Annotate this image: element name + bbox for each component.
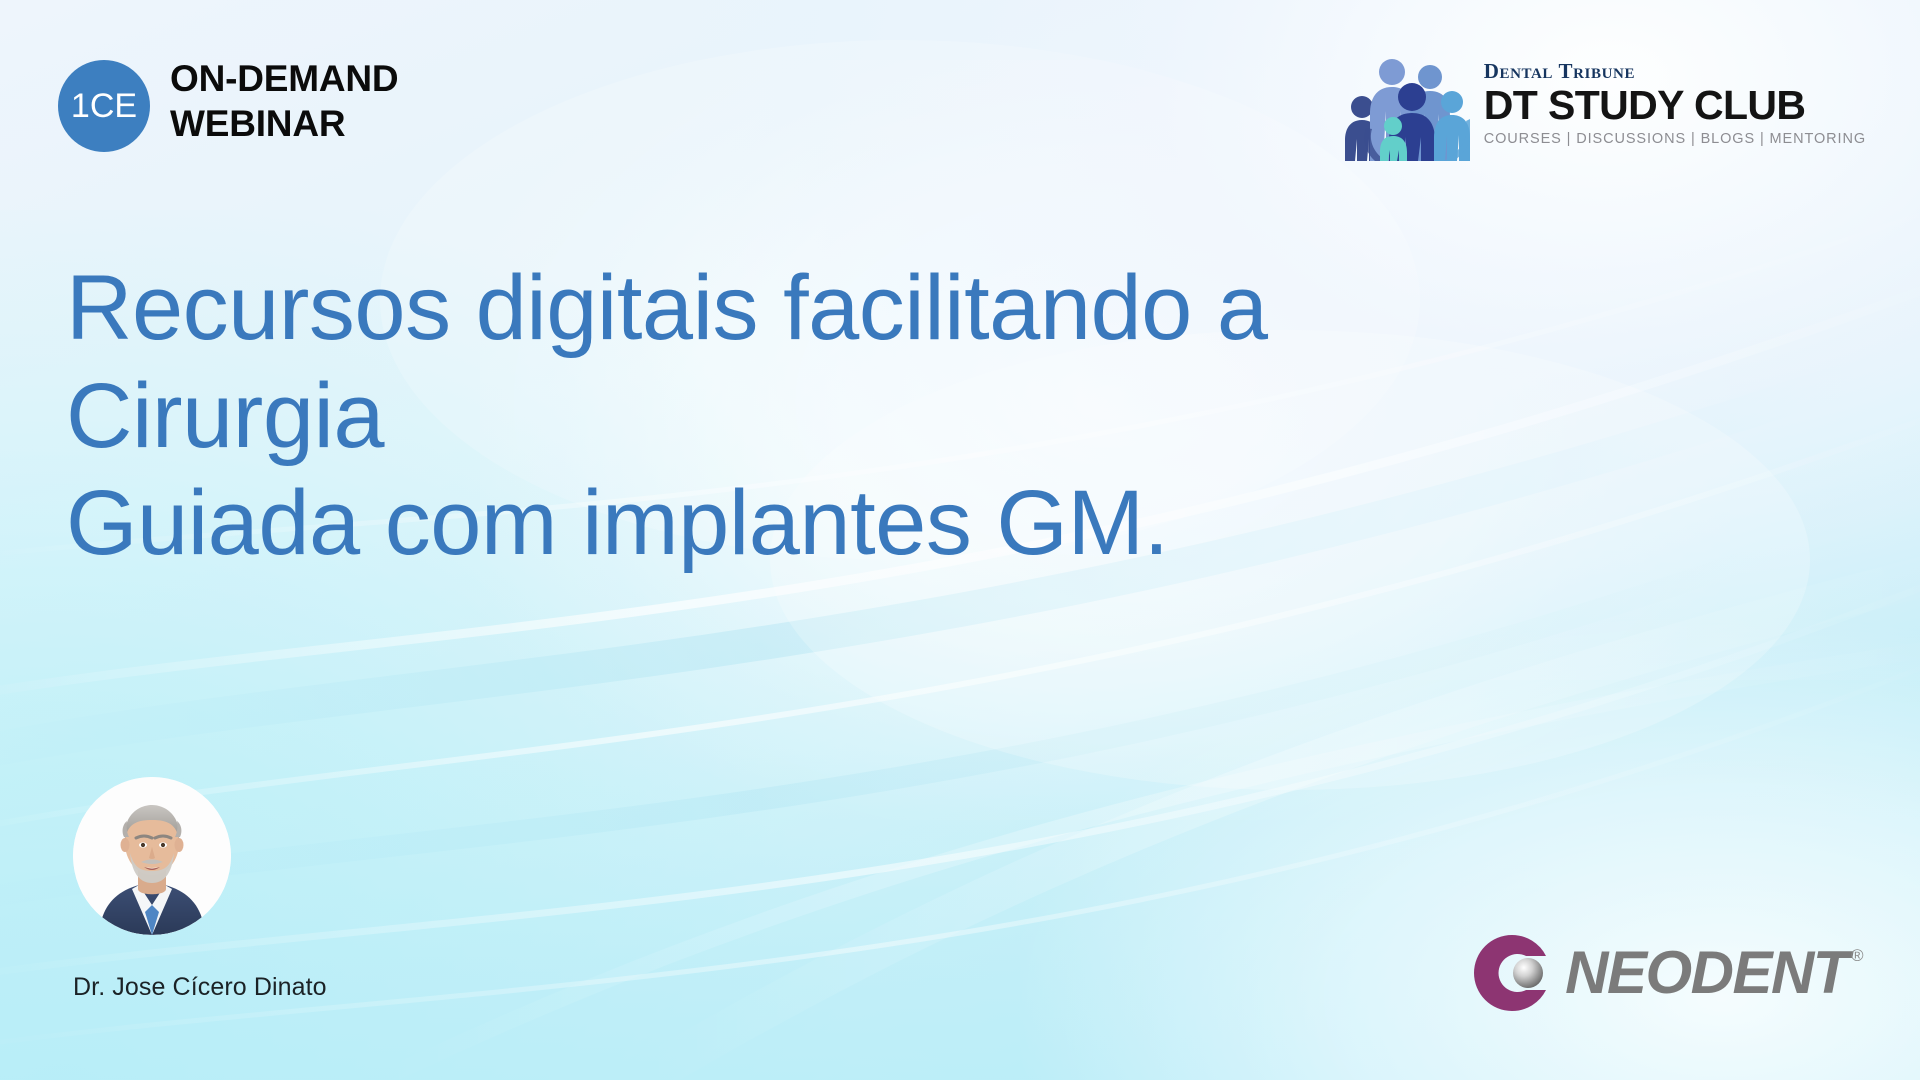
neodent-wordmark: NEODENT ® xyxy=(1565,943,1862,1003)
neodent-name: NEODENT xyxy=(1565,943,1848,1003)
ce-credit-badge: 1CE xyxy=(58,60,150,152)
neodent-sponsor-logo: NEODENT ® xyxy=(1469,930,1862,1016)
speaker-avatar xyxy=(73,777,231,935)
webinar-title-line1: Recursos digitais facilitando a Cirurgia xyxy=(66,255,1546,470)
dt-study-club-wordmark: Dental Tribune DT STUDY CLUB COURSES | D… xyxy=(1484,55,1866,147)
speaker-portrait-image xyxy=(73,777,231,935)
dental-tribune-publisher: Dental Tribune xyxy=(1484,61,1866,82)
webinar-type-label: ON-DEMAND WEBINAR xyxy=(170,56,398,146)
ce-credit-label: 1CE xyxy=(71,89,137,123)
webinar-title-line2: Guiada com implantes GM. xyxy=(66,470,1546,578)
speaker-name: Dr. Jose Cícero Dinato xyxy=(73,973,327,1002)
webinar-promo-slide: 1CE ON-DEMAND WEBINAR xyxy=(0,0,1920,1080)
dt-study-club-logo: Dental Tribune DT STUDY CLUB COURSES | D… xyxy=(1342,55,1866,161)
dt-study-club-name: DT STUDY CLUB xyxy=(1484,84,1866,127)
webinar-type-line2: WEBINAR xyxy=(170,101,398,146)
webinar-type-line1: ON-DEMAND xyxy=(170,56,398,101)
registered-trademark-icon: ® xyxy=(1851,947,1862,964)
dt-study-club-tagline: COURSES | DISCUSSIONS | BLOGS | MENTORIN… xyxy=(1484,132,1866,147)
webinar-title: Recursos digitais facilitando a Cirurgia… xyxy=(66,255,1546,578)
people-group-icon xyxy=(1342,55,1470,161)
neodent-mark-icon xyxy=(1469,930,1555,1016)
